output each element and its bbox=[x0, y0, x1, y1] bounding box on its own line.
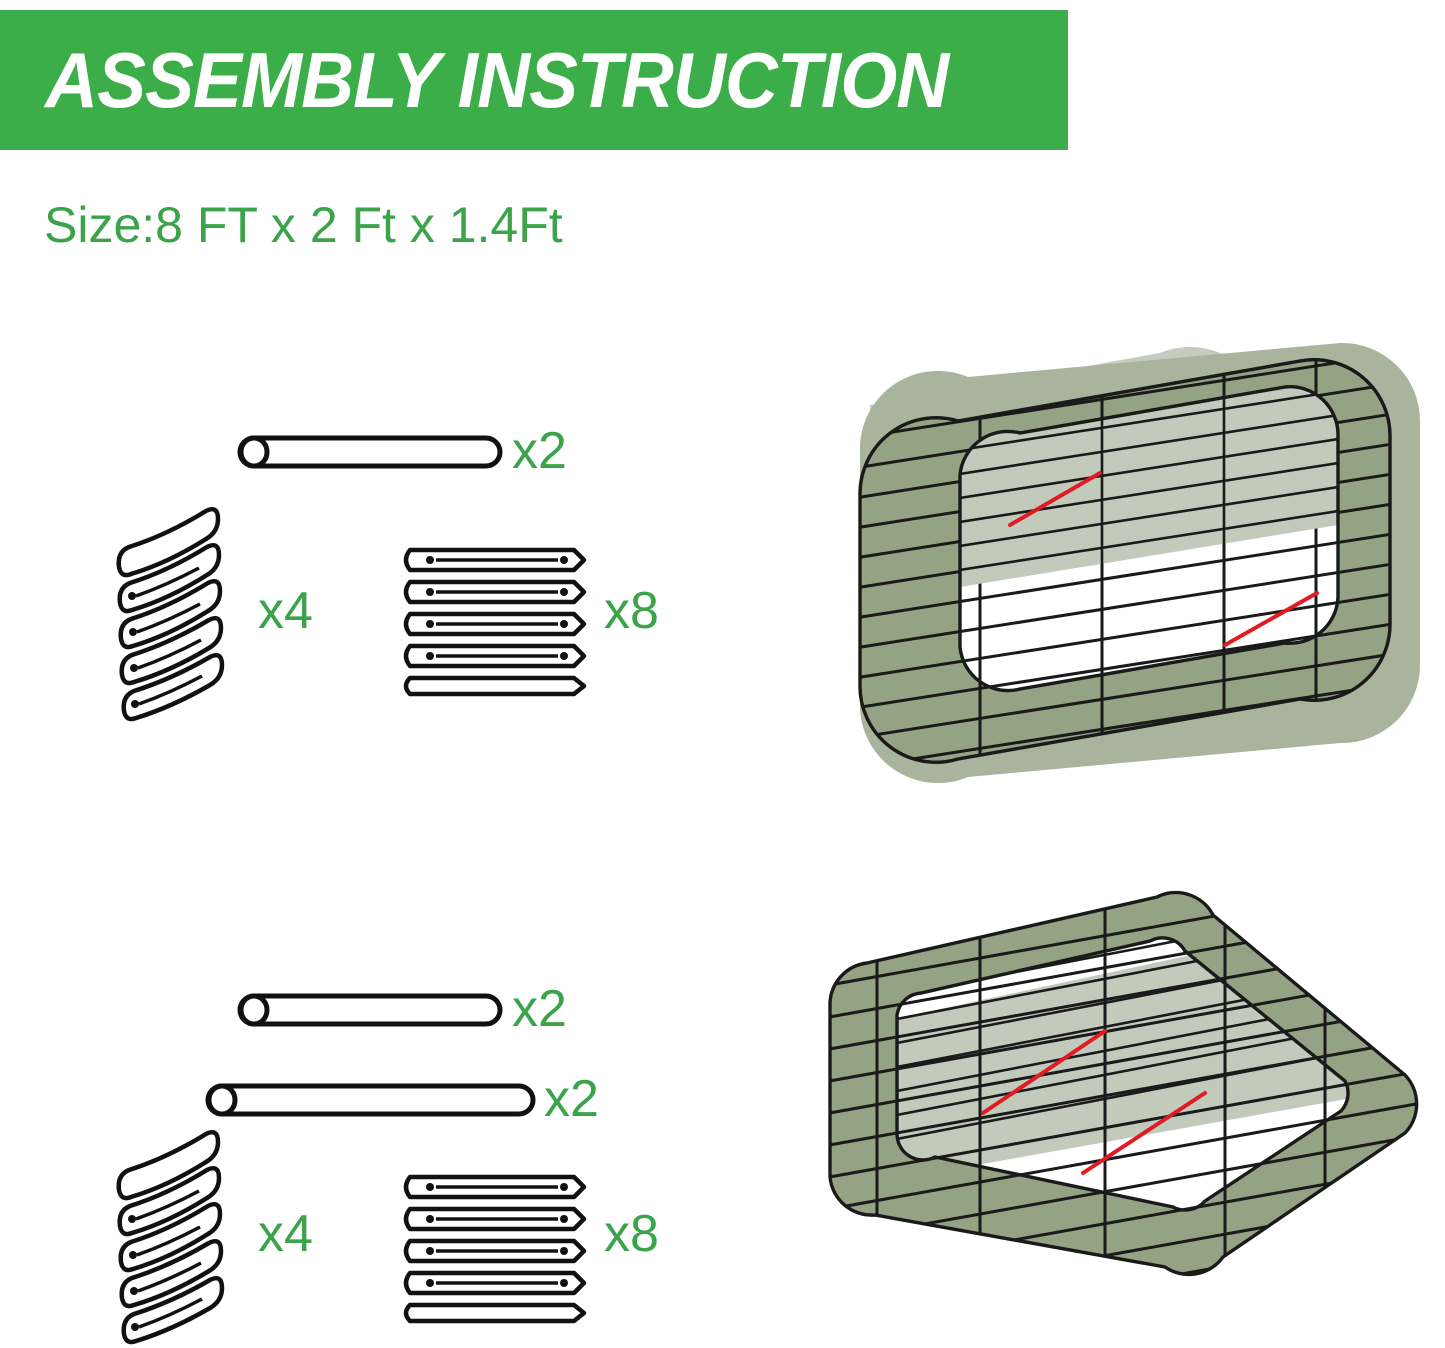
support-rod-long bbox=[208, 1078, 533, 1122]
corner-panel-stack-qty: x4 bbox=[258, 585, 313, 637]
support-rod-short bbox=[240, 988, 500, 1032]
raised-bed-rect-diagram bbox=[805, 885, 1435, 1335]
size-label: Size:8 FT x 2 Ft x 1.4Ft bbox=[44, 196, 563, 254]
side-panel-stack-qty: x8 bbox=[604, 1208, 659, 1260]
side-panel-stack bbox=[404, 1165, 594, 1329]
header-banner: ASSEMBLY INSTRUCTION bbox=[0, 10, 1068, 150]
side-panel-stack-qty: x8 bbox=[604, 585, 659, 637]
side-panel-stack bbox=[404, 538, 594, 702]
corner-panel-stack bbox=[110, 1148, 245, 1348]
corner-panel-stack bbox=[110, 515, 245, 725]
page-title: ASSEMBLY INSTRUCTION bbox=[0, 41, 948, 119]
support-rod-long-qty: x2 bbox=[544, 1073, 599, 1125]
support-rod bbox=[240, 430, 500, 474]
support-rod-short-qty: x2 bbox=[512, 983, 567, 1035]
raised-bed-oval-diagram bbox=[830, 325, 1440, 825]
support-rod-qty: x2 bbox=[512, 425, 567, 477]
corner-panel-stack-qty: x4 bbox=[258, 1208, 313, 1260]
